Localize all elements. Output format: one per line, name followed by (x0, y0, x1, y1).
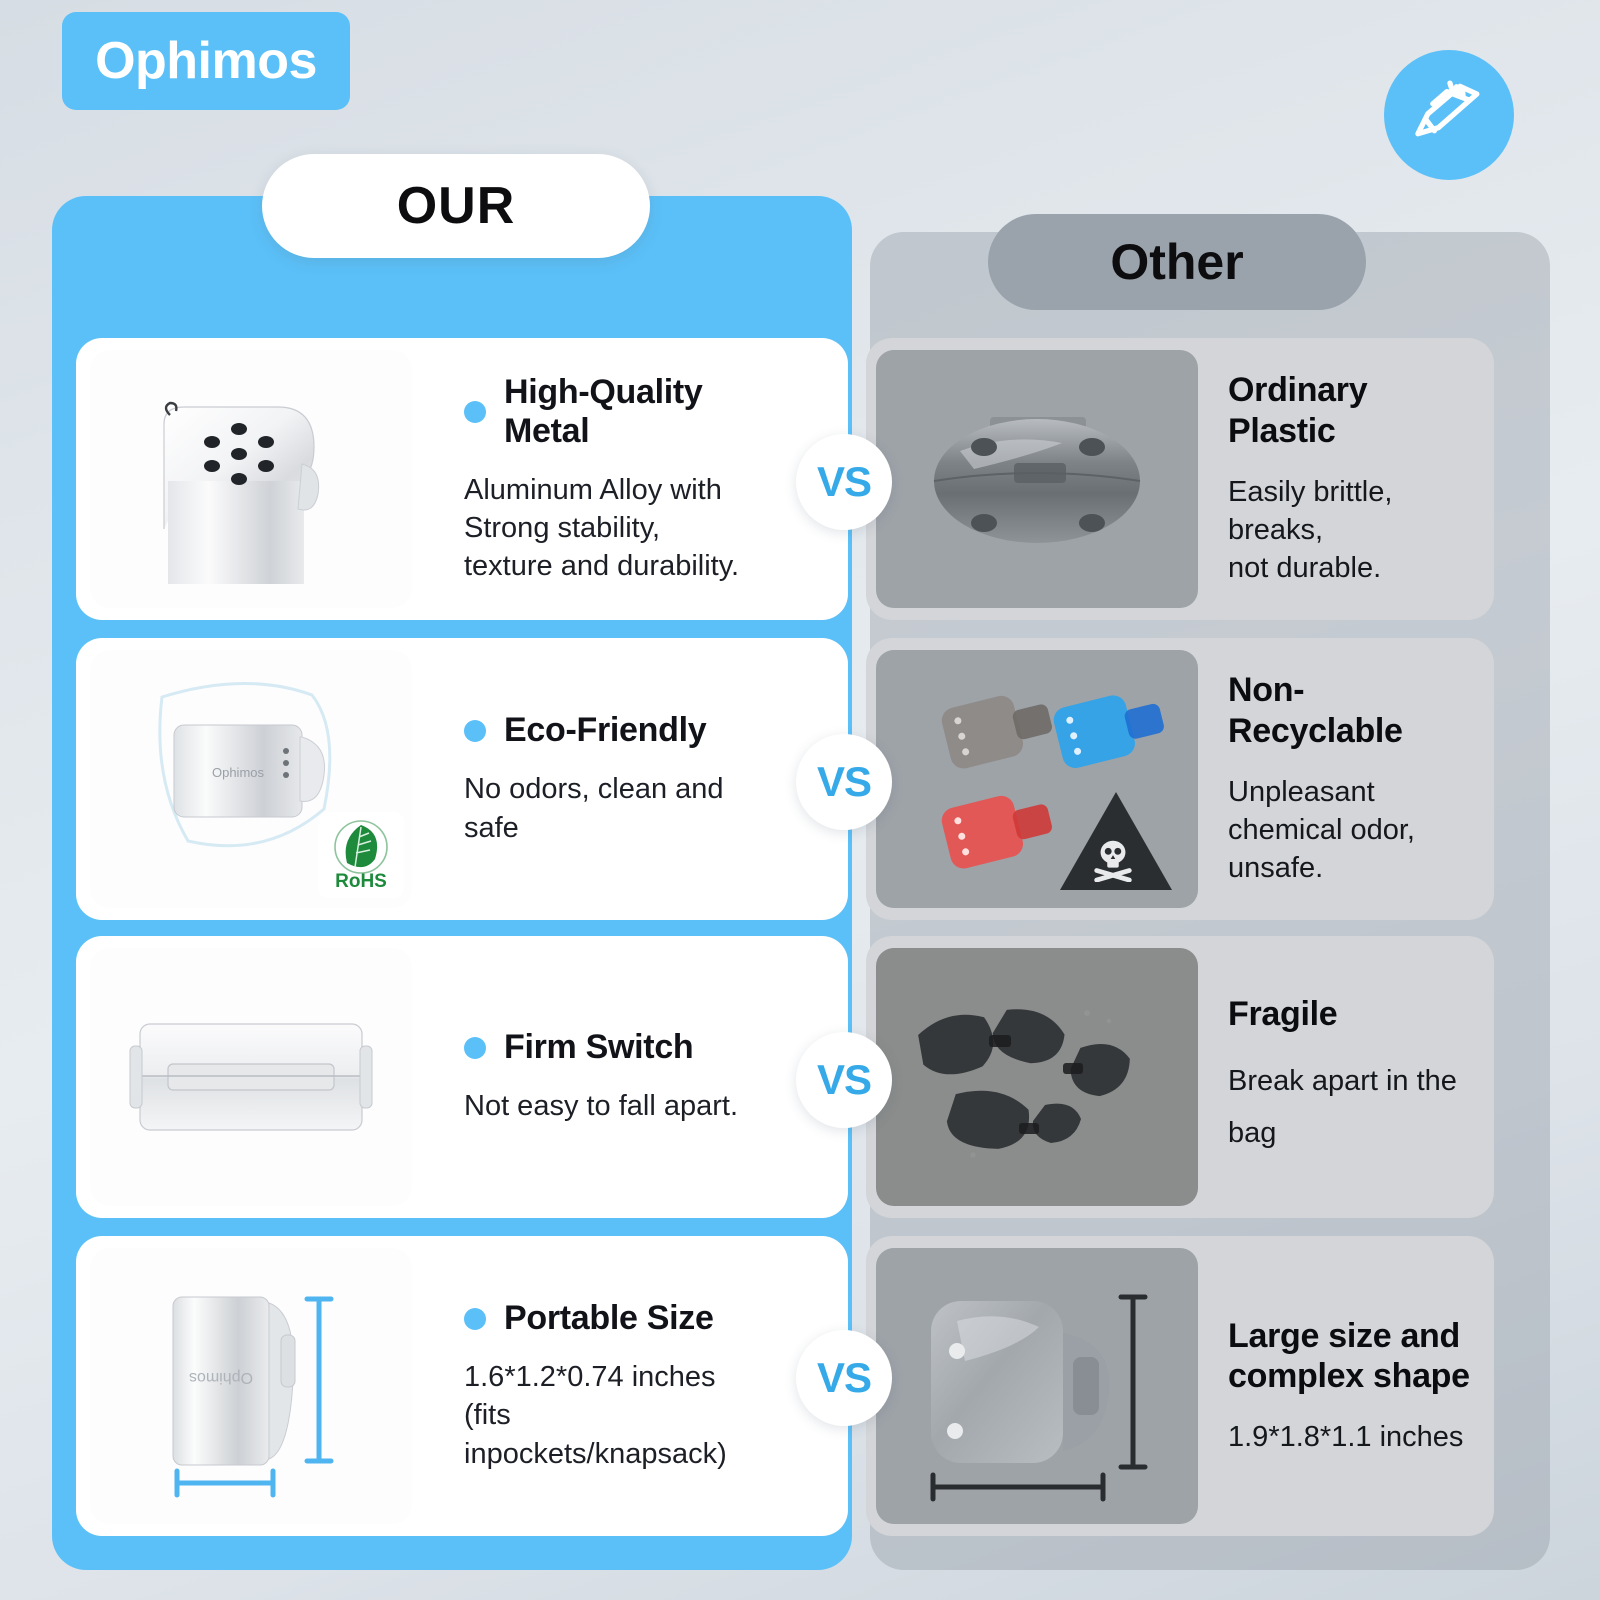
other-feature-title: Non-Recyclable (1228, 670, 1478, 750)
vs-badge: VS (796, 1032, 892, 1128)
product-image-large-case (876, 1248, 1198, 1524)
our-feature-card: Ophimos Portable Size 1.6*1.2*0.74 inche… (76, 1236, 848, 1536)
other-feature-card: Ordinary Plastic Easily brittle, breaks,… (866, 338, 1494, 620)
product-image-broken-pieces (876, 948, 1198, 1206)
vs-badge: VS (796, 434, 892, 530)
our-header-label: OUR (397, 176, 516, 236)
other-feature-title: Large size and complex shape (1228, 1316, 1470, 1396)
vs-label: VS (817, 458, 871, 506)
svg-text:Ophimos: Ophimos (212, 765, 265, 780)
our-feature-title: Eco-Friendly (504, 711, 706, 750)
other-feature-title: Ordinary Plastic (1228, 370, 1478, 450)
bullet-dot-icon (464, 720, 486, 742)
other-feature-card: Large size and complex shape 1.9*1.8*1.1… (866, 1236, 1494, 1536)
product-image-plastic-clips (876, 650, 1198, 908)
rohs-badge-icon: RoHS (318, 812, 404, 898)
our-feature-desc: No odors, clean and safe (464, 770, 724, 847)
other-feature-card: Non-Recyclable Unpleasant chemical odor,… (866, 638, 1494, 920)
vs-label: VS (817, 1056, 871, 1104)
our-feature-text: Firm Switch Not easy to fall apart. (412, 1028, 818, 1125)
our-feature-title: Firm Switch (504, 1028, 693, 1067)
other-feature-text: Ordinary Plastic Easily brittle, breaks,… (1198, 370, 1494, 587)
product-image-metal-cap (90, 350, 412, 608)
our-feature-title-row: Firm Switch (464, 1028, 738, 1067)
our-header-badge: OUR (262, 154, 650, 258)
other-feature-text: Large size and complex shape 1.9*1.8*1.1… (1198, 1316, 1486, 1456)
other-feature-desc: Unpleasant chemical odor, unsafe. (1228, 773, 1478, 888)
other-feature-text: Fragile Break apart in the bag (1198, 994, 1473, 1159)
other-feature-card: Fragile Break apart in the bag (866, 936, 1494, 1218)
our-feature-text: Eco-Friendly No odors, clean and safe (412, 711, 804, 847)
our-feature-desc: Not easy to fall apart. (464, 1087, 738, 1125)
svg-text:Ophimos: Ophimos (189, 1369, 253, 1386)
toothbrush-icon (1384, 50, 1514, 180)
brand-name: Ophimos (95, 31, 317, 91)
product-image-metal-holder: Ophimos RoHS (90, 650, 412, 908)
other-header-badge: Other (988, 214, 1366, 310)
our-feature-title-row: High-Quality Metal (464, 373, 768, 451)
our-feature-card: Firm Switch Not easy to fall apart. (76, 936, 848, 1218)
our-feature-desc: 1.6*1.2*0.74 inches (fits inpockets/knap… (464, 1358, 768, 1473)
vs-badge: VS (796, 734, 892, 830)
other-feature-desc: Easily brittle, breaks, not durable. (1228, 473, 1478, 588)
our-feature-title: High-Quality Metal (504, 373, 768, 451)
svg-text:RoHS: RoHS (335, 871, 387, 892)
bullet-dot-icon (464, 401, 486, 423)
other-feature-desc: Break apart in the bag (1228, 1056, 1457, 1159)
product-image-firm-switch (90, 948, 412, 1206)
our-feature-title: Portable Size (504, 1299, 714, 1338)
product-image-plastic-case (876, 350, 1198, 608)
vs-label: VS (817, 1354, 871, 1402)
our-feature-title-row: Portable Size (464, 1299, 768, 1338)
skull-crossbones-icon (1090, 836, 1136, 882)
our-feature-desc: Aluminum Alloy with Strong stability, te… (464, 471, 768, 586)
other-feature-text: Non-Recyclable Unpleasant chemical odor,… (1198, 670, 1494, 887)
vs-label: VS (817, 758, 871, 806)
our-feature-card: Ophimos RoHS Eco-Friendly No odors, clea… (76, 638, 848, 920)
product-image-portable-size: Ophimos (90, 1248, 412, 1524)
bullet-dot-icon (464, 1308, 486, 1330)
our-feature-text: High-Quality Metal Aluminum Alloy with S… (412, 373, 848, 586)
bullet-dot-icon (464, 1037, 486, 1059)
other-feature-title: Fragile (1228, 994, 1457, 1034)
our-feature-card: High-Quality Metal Aluminum Alloy with S… (76, 338, 848, 620)
brand-logo: Ophimos (62, 12, 350, 110)
other-feature-desc: 1.9*1.8*1.1 inches (1228, 1418, 1470, 1456)
vs-badge: VS (796, 1330, 892, 1426)
other-header-label: Other (1110, 233, 1243, 291)
our-feature-title-row: Eco-Friendly (464, 711, 724, 750)
our-feature-text: Portable Size 1.6*1.2*0.74 inches (fits … (412, 1299, 848, 1473)
